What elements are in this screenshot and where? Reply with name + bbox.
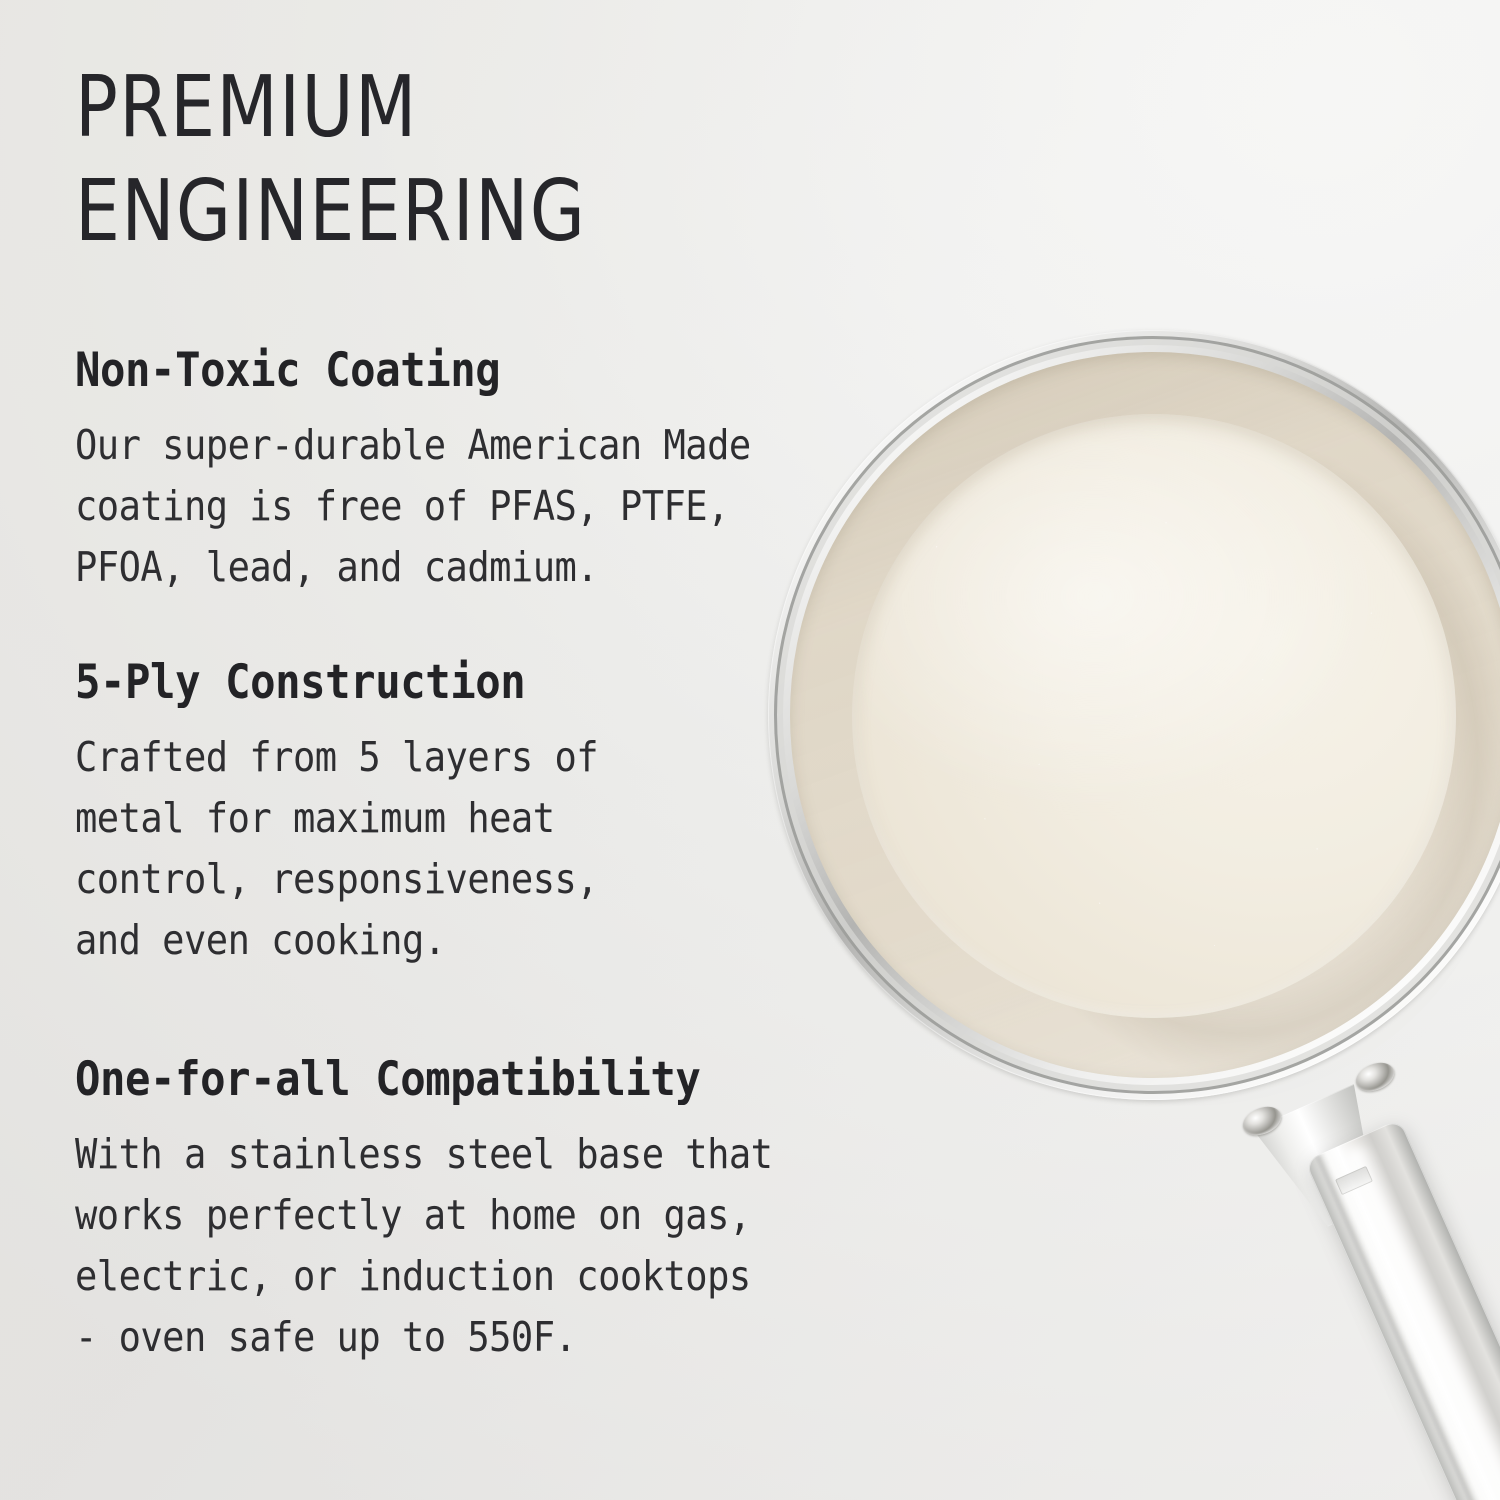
feature-body-text: Our super-durable American Made coating … <box>75 415 817 598</box>
feature-body-text: With a stainless steel base that works p… <box>75 1124 817 1368</box>
feature-heading: Non-Toxic Coating <box>75 343 813 399</box>
pan-surface-gloss-highlight <box>860 420 1448 1008</box>
feature-body-text: Crafted from 5 layers of metal for maxim… <box>75 727 817 971</box>
product-feature-graphic: PREMIUM ENGINEERING Non-Toxic Coating Ou… <box>0 0 1500 1500</box>
feature-section-5-ply-construction: 5-Ply Construction Crafted from 5 layers… <box>75 655 895 971</box>
feature-section-non-toxic-coating: Non-Toxic Coating Our super-durable Amer… <box>75 343 895 598</box>
page-title: PREMIUM ENGINEERING <box>75 56 838 264</box>
feature-heading: 5-Ply Construction <box>75 655 813 711</box>
feature-text-column: PREMIUM ENGINEERING Non-Toxic Coating Ou… <box>75 0 895 1500</box>
pan-handle-highlight <box>1304 1119 1500 1500</box>
feature-heading: One-for-all Compatibility <box>75 1052 813 1108</box>
feature-section-compatibility: One-for-all Compatibility With a stainle… <box>75 1052 895 1368</box>
